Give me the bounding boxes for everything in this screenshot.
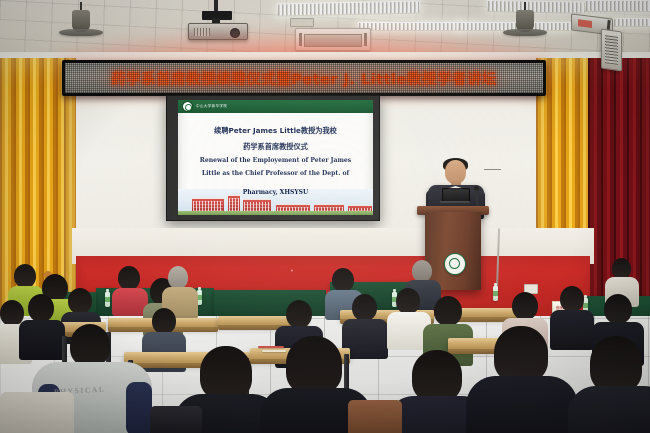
led-banner-text: 药学系首席教授续聘仪式暨Peter J. Little教授学者讲坛 [65,63,543,93]
curtain-left-sliver [64,58,76,313]
slide-footer-image: Pharmacy, XHSYSU [178,189,373,215]
pen [258,346,284,348]
ceiling-projector-icon [186,0,248,40]
fluorescent-light-panel [358,22,462,31]
laptop-icon [440,188,468,204]
lecture-hall-photo: 药学系首席教授续聘仪式暨Peter J. Little教授学者讲坛 中山大学新华… [0,0,650,433]
water-bottle [493,286,498,301]
ac-vent-icon [295,28,371,51]
projection-screen: 中山大学新华学院 续聘Peter James Little教授为我校 药学系首席… [166,95,380,221]
ac-vent-small-icon [290,18,314,27]
ceiling-fan-icon [502,2,548,42]
chair-back [0,392,74,433]
fluorescent-light-panel [585,0,650,12]
water-bottle [105,292,110,307]
ceiling [0,0,650,58]
lectern-body [425,212,481,290]
fluorescent-light-panel [613,18,650,27]
slide-line-en-2: Little as the Chief Professor of the Dep… [202,170,349,177]
slide-line-cn-2: 药学系首席教授仪式 [243,142,308,152]
slide-body: 续聘Peter James Little教授为我校 药学系首席教授仪式 Rene… [178,114,373,189]
campus-building [228,195,240,212]
slide-line-cn-1: 续聘Peter James Little教授为我校 [214,126,337,136]
slide-line-last: Pharmacy, XHSYSU [178,189,373,196]
slide-header-bar: 中山大学新华学院 [178,100,373,113]
campus-building [192,198,224,212]
slide-line-en-1: Renewal of the Employement of Peter Jame… [200,157,352,164]
slide-university-name: 中山大学新华学院 [196,104,227,109]
pen [262,350,286,352]
ceiling-fan-icon [58,2,104,42]
led-banner: 药学系首席教授续聘仪式暨Peter J. Little教授学者讲坛 [62,60,546,96]
chair-back [150,406,202,433]
chair-back [348,400,402,433]
university-seal-icon [444,253,466,275]
audience-arm [126,382,152,433]
wall-speaker-icon [601,29,622,72]
campus-lawn [178,211,373,215]
university-seal-icon [182,101,193,112]
